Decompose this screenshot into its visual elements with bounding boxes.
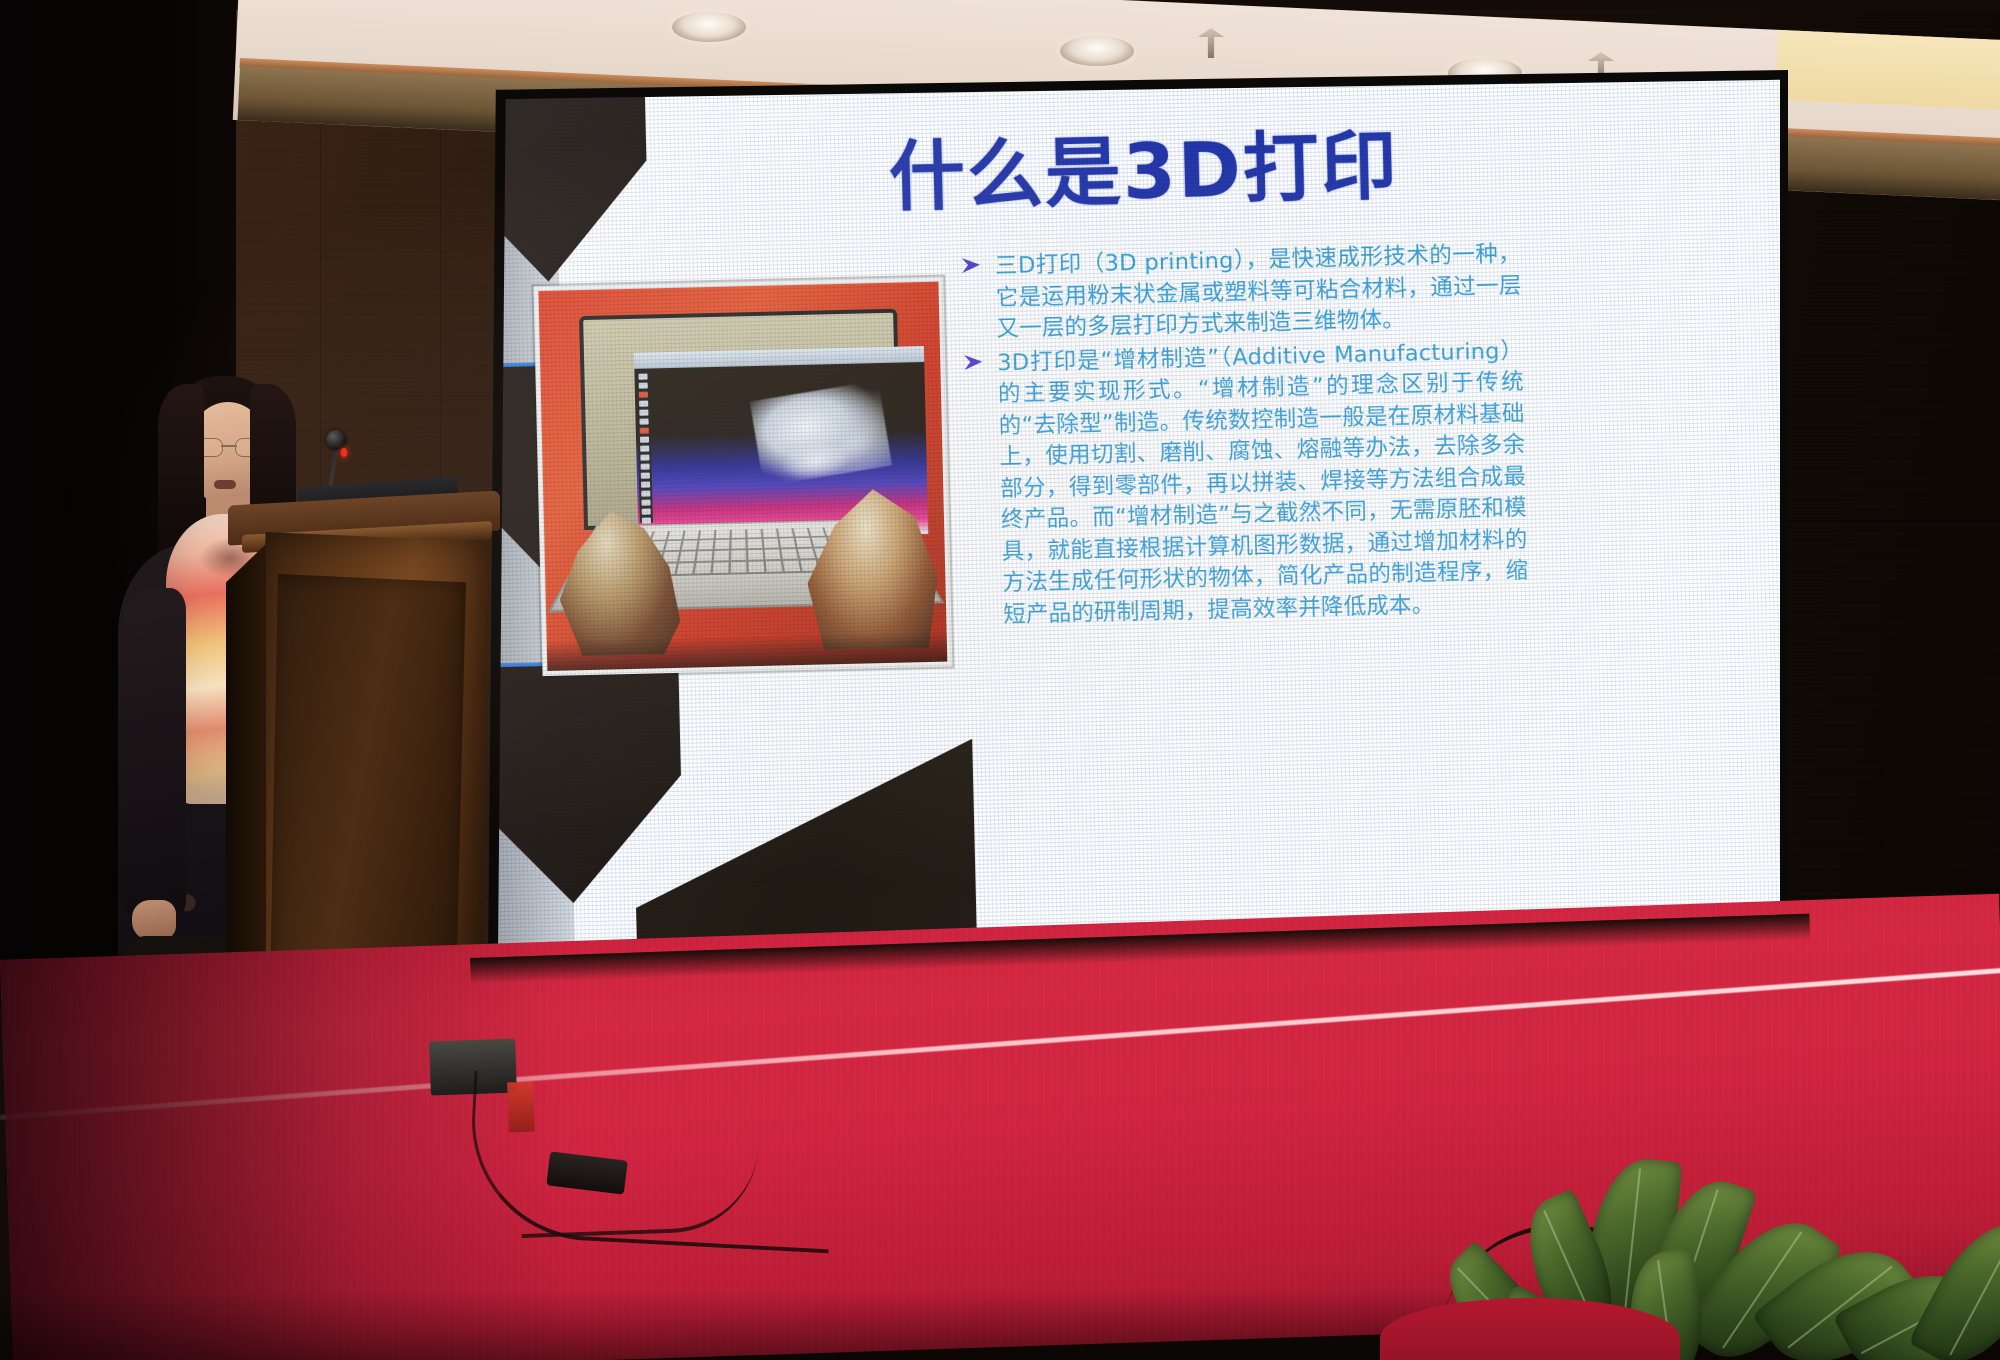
ceiling-warm-glow [1775,30,2000,116]
photo-scene: 什么是3D打印 [0,0,2000,1360]
arrow-bullet-icon [963,352,986,384]
list-item: 三D打印（3D printing），是快速成形技术的一种，它是运用粉末状金属或塑… [960,239,1522,347]
slide-title: 什么是3D打印 [692,99,1594,230]
arrow-bullet-icon [961,255,984,287]
presenter-hand [132,900,176,940]
presenter-mouth [214,480,236,489]
microphone-icon [326,430,346,450]
presentation-slide: 什么是3D打印 [498,78,1780,958]
slide-bullet-list: 三D打印（3D printing），是快速成形技术的一种，它是运用粉末状金属或塑… [960,239,1529,634]
potted-foliage [1340,1048,2000,1360]
lectern-front-panel [266,574,466,994]
dinosaur-3d-model [750,380,892,486]
bullet-text: 3D打印是“增材制造”（Additive Manufacturing）的主要实现… [997,335,1530,631]
list-item: 3D打印是“增材制造”（Additive Manufacturing）的主要实现… [963,335,1530,632]
microphone-indicator-light [341,448,347,457]
laptop-screen-menubar [634,346,924,369]
presenter-arm [118,588,186,918]
recessed-downlight [672,12,746,42]
led-screen: 什么是3D打印 [498,78,1780,958]
laptop-screen-toolbar [636,370,653,522]
recessed-downlight [1060,36,1134,66]
slide-photo-3d-printing [533,276,952,676]
slide-dark-wedge-bottom [632,738,978,958]
laptop-lid [579,308,902,529]
bullet-text: 三D打印（3D printing），是快速成形技术的一种，它是运用粉末状金属或塑… [994,239,1522,346]
